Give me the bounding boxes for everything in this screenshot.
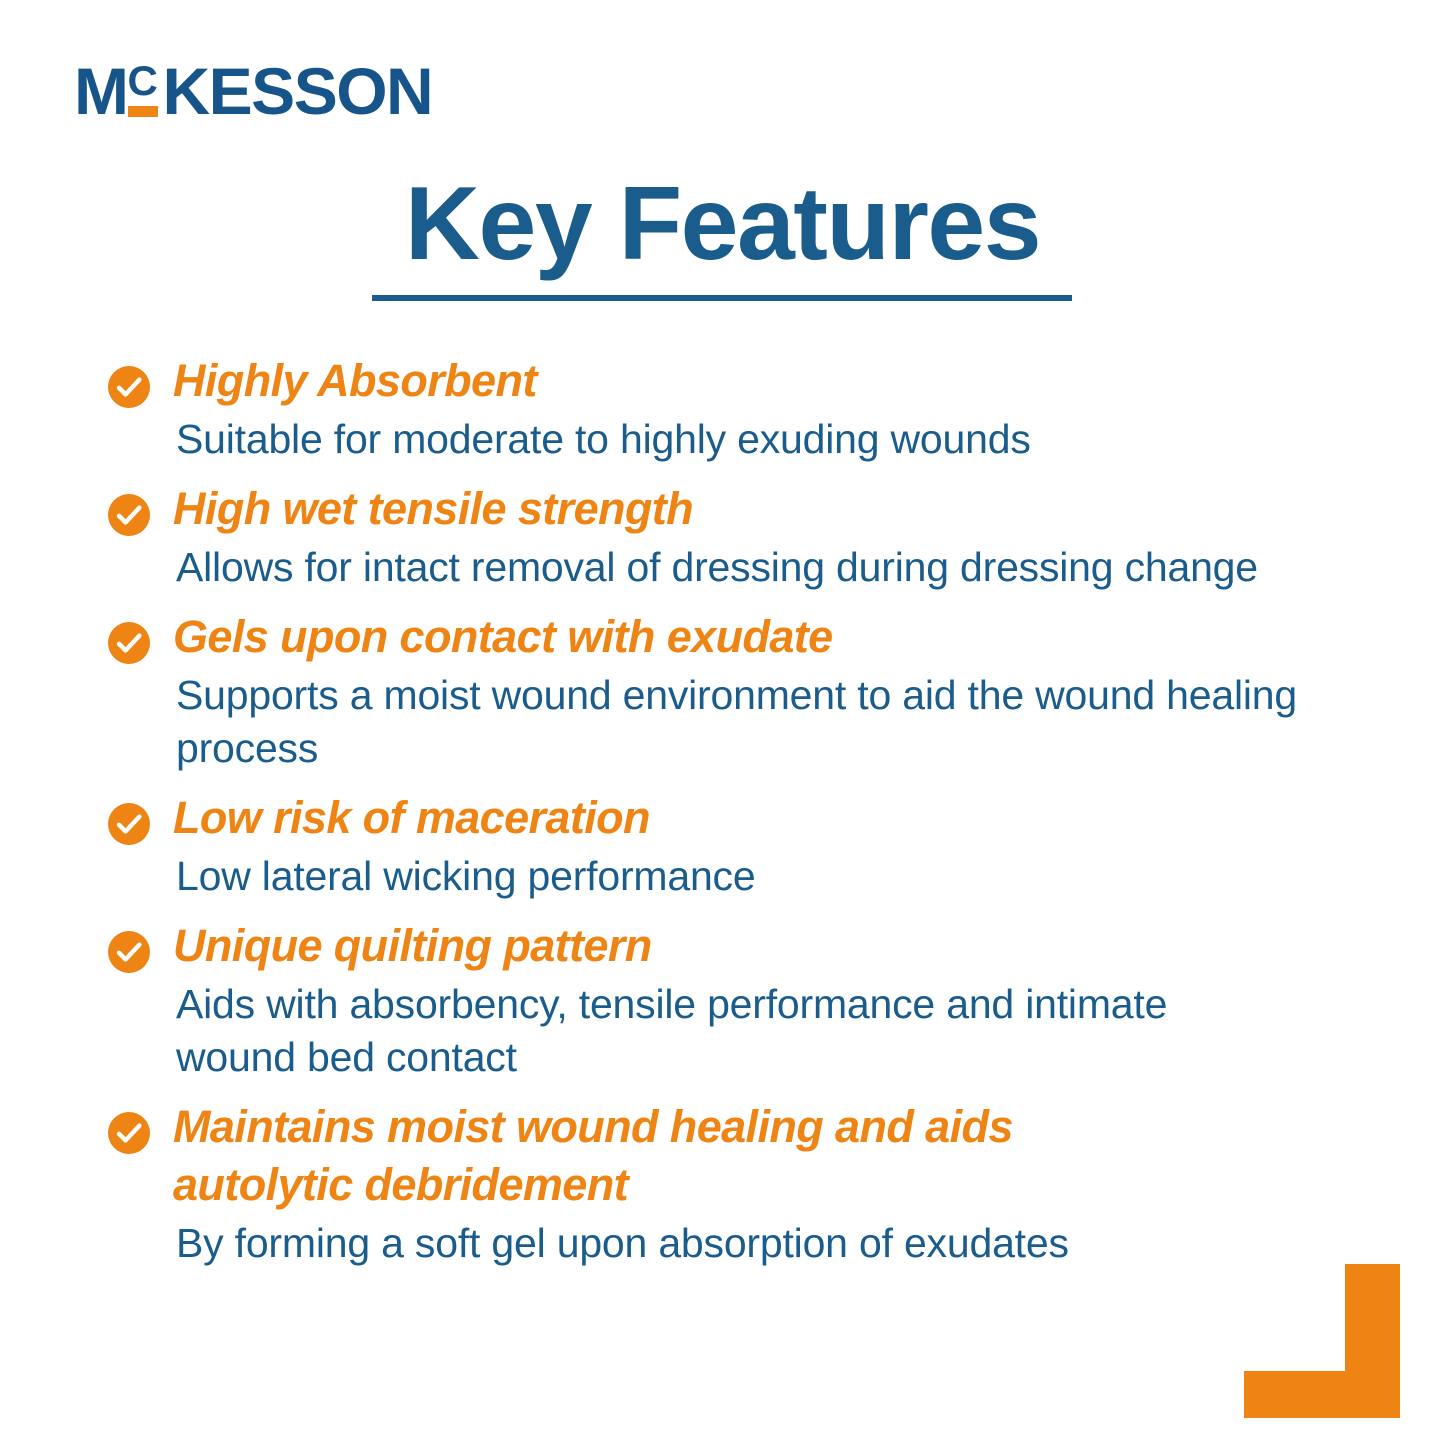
logo-superscript-c: C xyxy=(127,60,156,102)
feature-item: Maintains moist wound healing and aids a… xyxy=(0,1098,1445,1270)
feature-heading: Gels upon contact with exudate xyxy=(110,608,1385,666)
corner-bracket-horizontal-bar xyxy=(1244,1371,1400,1418)
feature-heading: Unique quilting pattern xyxy=(110,917,1385,975)
feature-description: Low lateral wicking performance xyxy=(110,850,1385,903)
feature-item: Unique quilting pattern Aids with absorb… xyxy=(0,917,1445,1084)
feature-description: By forming a soft gel upon absorption of… xyxy=(110,1217,1385,1270)
corner-bracket-decoration xyxy=(1244,1264,1400,1418)
feature-item: Gels upon contact with exudate Supports … xyxy=(0,608,1445,775)
feature-heading: Low risk of maceration xyxy=(110,789,1385,847)
check-circle-icon xyxy=(108,931,150,973)
page-title: Key Features xyxy=(0,168,1445,280)
check-circle-icon xyxy=(108,366,150,408)
feature-description: Supports a moist wound environment to ai… xyxy=(110,669,1351,775)
feature-item: Highly Absorbent Suitable for moderate t… xyxy=(0,352,1445,466)
page-title-block: Key Features xyxy=(0,168,1445,280)
check-circle-icon xyxy=(108,622,150,664)
logo-letter-m: M xyxy=(74,62,127,120)
mckesson-logo: M C KESSON xyxy=(74,62,432,124)
logo-wordmark-rest: KESSON xyxy=(162,62,432,120)
title-underline-rule xyxy=(372,295,1072,301)
feature-description: Suitable for moderate to highly exuding … xyxy=(110,413,1385,466)
feature-description: Aids with absorbency, tensile performanc… xyxy=(110,978,1216,1084)
feature-heading: Maintains moist wound healing and aids a… xyxy=(110,1098,1173,1214)
check-circle-icon xyxy=(108,494,150,536)
check-circle-icon xyxy=(108,803,150,845)
key-features-list: Highly Absorbent Suitable for moderate t… xyxy=(0,352,1445,1284)
logo-orange-underline-bar xyxy=(128,106,158,117)
feature-description: Allows for intact removal of dressing du… xyxy=(110,541,1385,594)
feature-heading: Highly Absorbent xyxy=(110,352,1385,410)
feature-heading: High wet tensile strength xyxy=(110,480,1385,538)
feature-item: High wet tensile strength Allows for int… xyxy=(0,480,1445,594)
feature-item: Low risk of maceration Low lateral wicki… xyxy=(0,789,1445,903)
check-circle-icon xyxy=(108,1112,150,1154)
logo-superscript-wrap: C xyxy=(127,62,161,120)
